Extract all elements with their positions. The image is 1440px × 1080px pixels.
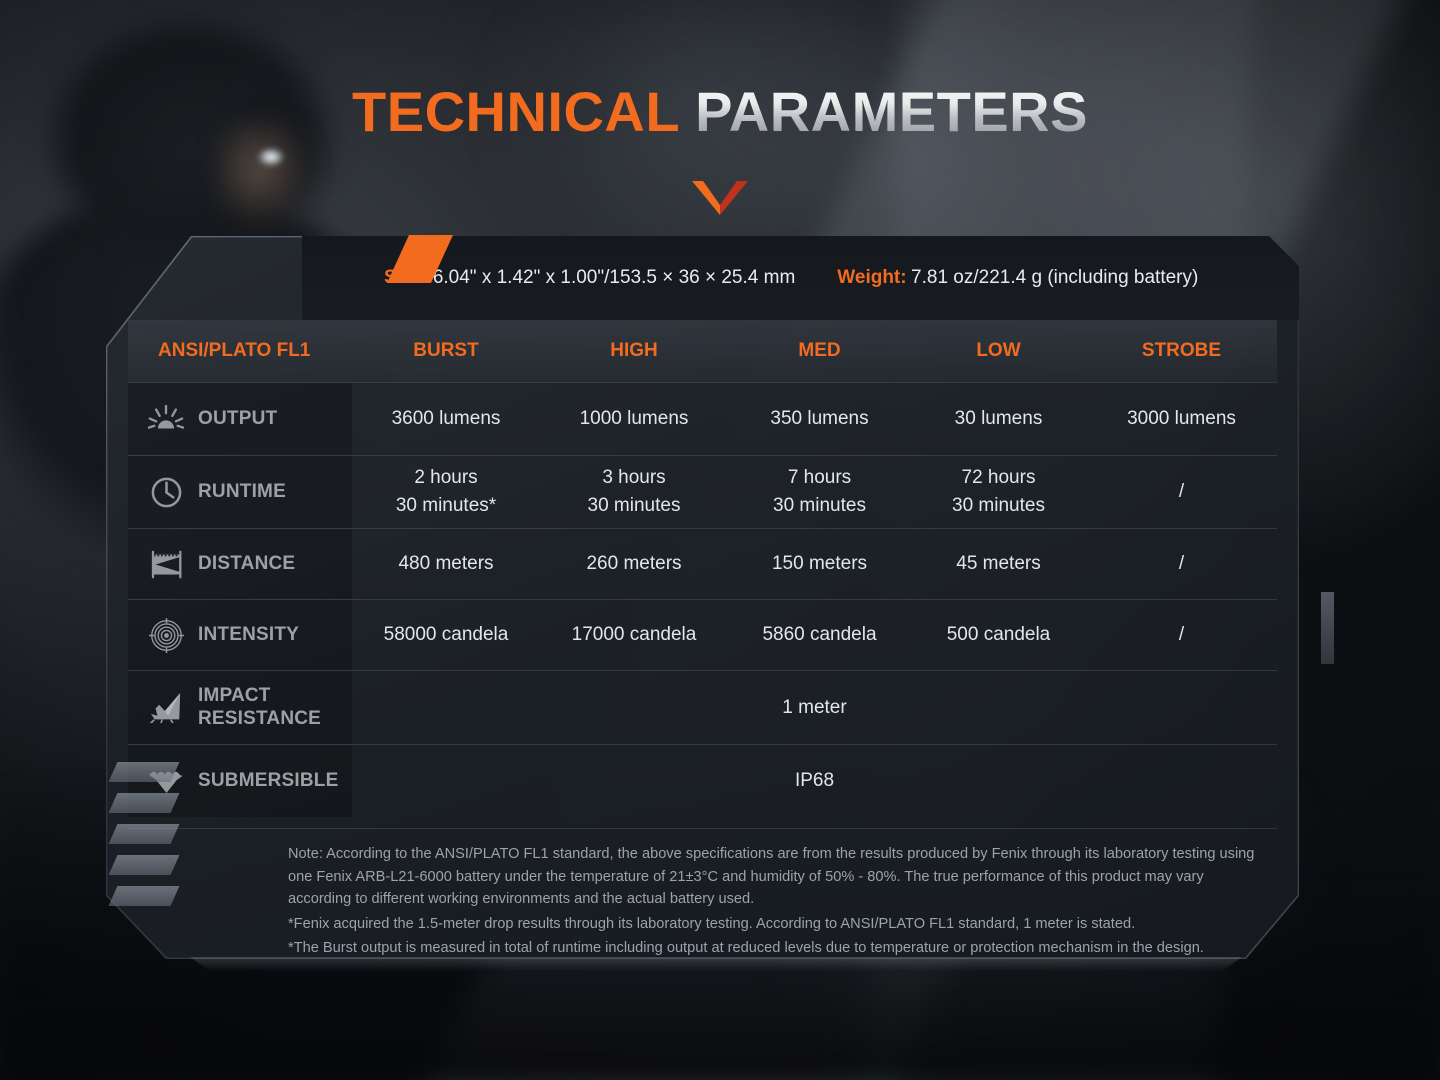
size-value: 6.04" x 1.42" x 1.00"/153.5 × 36 × 25.4 …: [433, 267, 795, 288]
weight-value: 7.81 oz/221.4 g (including battery): [911, 267, 1198, 288]
footnote-block: Note: According to the ANSI/PLATO FL1 st…: [128, 828, 1277, 960]
row-label-distance: DISTANCE: [128, 549, 352, 580]
size-weight-strip: Size: 6.04" x 1.42" x 1.00"/153.5 × 36 ×…: [302, 236, 1299, 320]
chevron-down-icon: [692, 179, 748, 215]
table-row-output: OUTPUT 3600 lumens 1000 lumens 350 lumen…: [128, 382, 1277, 455]
cell-runtime-low: 72 hours30 minutes: [911, 464, 1086, 519]
table-header-row: ANSI/PLATO FL1 BURST HIGH MED LOW STROBE: [128, 320, 1277, 382]
table-row-submersible: SUBMERSIBLE IP68: [128, 744, 1277, 817]
footnote-line-1: Note: According to the ANSI/PLATO FL1 st…: [288, 843, 1269, 911]
header-col-strobe: STROBE: [1086, 337, 1277, 365]
cell-distance-high: 260 meters: [540, 550, 728, 578]
stripe: [109, 855, 180, 875]
row-label-submersible-text: SUBMERSIBLE: [198, 770, 339, 793]
size-spec: Size: 6.04" x 1.42" x 1.00"/153.5 × 36 ×…: [384, 267, 795, 289]
impact-drop-icon: [146, 692, 186, 723]
beam-distance-icon: [146, 549, 186, 580]
stripe: [109, 762, 180, 782]
table-row-intensity: INTENSITY 58000 candela 17000 candela 58…: [128, 599, 1277, 670]
page-title-orange: TECHNICAL: [352, 80, 695, 143]
row-label-impact-text: IMPACTRESISTANCE: [198, 685, 321, 731]
table-row-runtime: RUNTIME 2 hours30 minutes* 3 hours30 min…: [128, 455, 1277, 528]
cell-runtime-high: 3 hours30 minutes: [540, 464, 728, 519]
cell-intensity-low: 500 candela: [911, 621, 1086, 649]
table-row-distance: DISTANCE 480 meters 260 meters 150 meter…: [128, 528, 1277, 599]
cell-distance-burst: 480 meters: [352, 550, 540, 578]
cell-distance-strobe: /: [1086, 550, 1277, 578]
cell-output-high: 1000 lumens: [540, 405, 728, 433]
cell-submersible-value: IP68: [352, 770, 1277, 792]
cell-output-med: 350 lumens: [728, 405, 911, 433]
decorative-right-tab: [1321, 592, 1334, 664]
cell-runtime-burst: 2 hours30 minutes*: [352, 464, 540, 519]
page-title: TECHNICAL PARAMETERS: [0, 84, 1440, 140]
clock-icon: [146, 476, 186, 509]
cell-runtime-med: 7 hours30 minutes: [728, 464, 911, 519]
title-block: TECHNICAL PARAMETERS: [0, 84, 1440, 140]
header-col-high: HIGH: [540, 337, 728, 365]
row-label-output-text: OUTPUT: [198, 408, 277, 431]
stripe: [109, 793, 180, 813]
header-standard-label: ANSI/PLATO FL1: [128, 337, 352, 365]
cell-output-strobe: 3000 lumens: [1086, 405, 1277, 433]
row-label-impact-resistance: IMPACTRESISTANCE: [128, 685, 352, 731]
target-intensity-icon: [146, 618, 186, 653]
footnote-line-3: *The Burst output is measured in total o…: [288, 937, 1269, 960]
cell-intensity-med: 5860 candela: [728, 621, 911, 649]
sunburst-icon: [146, 404, 186, 435]
header-col-med: MED: [728, 337, 911, 365]
panel-bottom-shadow: [166, 957, 1266, 971]
header-col-low: LOW: [911, 337, 1086, 365]
cell-impact-resistance-value: 1 meter: [352, 697, 1277, 719]
cell-intensity-strobe: /: [1086, 621, 1277, 649]
row-label-distance-text: DISTANCE: [198, 553, 295, 576]
spec-panel: Size: 6.04" x 1.42" x 1.00"/153.5 × 36 ×…: [106, 236, 1299, 959]
cell-output-burst: 3600 lumens: [352, 405, 540, 433]
stripe: [109, 824, 180, 844]
weight-label: Weight:: [837, 267, 906, 288]
page-title-silver: PARAMETERS: [695, 80, 1088, 143]
cell-intensity-high: 17000 candela: [540, 621, 728, 649]
header-col-burst: BURST: [352, 337, 540, 365]
cell-intensity-burst: 58000 candela: [352, 621, 540, 649]
row-label-intensity: INTENSITY: [128, 618, 352, 653]
cell-distance-med: 150 meters: [728, 550, 911, 578]
cell-runtime-strobe: /: [1086, 478, 1277, 506]
cell-distance-low: 45 meters: [911, 550, 1086, 578]
stripe: [109, 886, 180, 906]
decorative-stripes: [113, 762, 175, 952]
table-row-impact-resistance: IMPACTRESISTANCE 1 meter: [128, 670, 1277, 744]
weight-spec: Weight: 7.81 oz/221.4 g (including batte…: [837, 267, 1198, 289]
row-label-output: OUTPUT: [128, 404, 352, 435]
specification-table: ANSI/PLATO FL1 BURST HIGH MED LOW STROBE: [128, 320, 1277, 823]
cell-output-low: 30 lumens: [911, 405, 1086, 433]
row-label-runtime: RUNTIME: [128, 476, 352, 509]
row-label-intensity-text: INTENSITY: [198, 624, 299, 647]
footnote-line-2: *Fenix acquired the 1.5-meter drop resul…: [288, 913, 1269, 936]
row-label-runtime-text: RUNTIME: [198, 481, 286, 504]
